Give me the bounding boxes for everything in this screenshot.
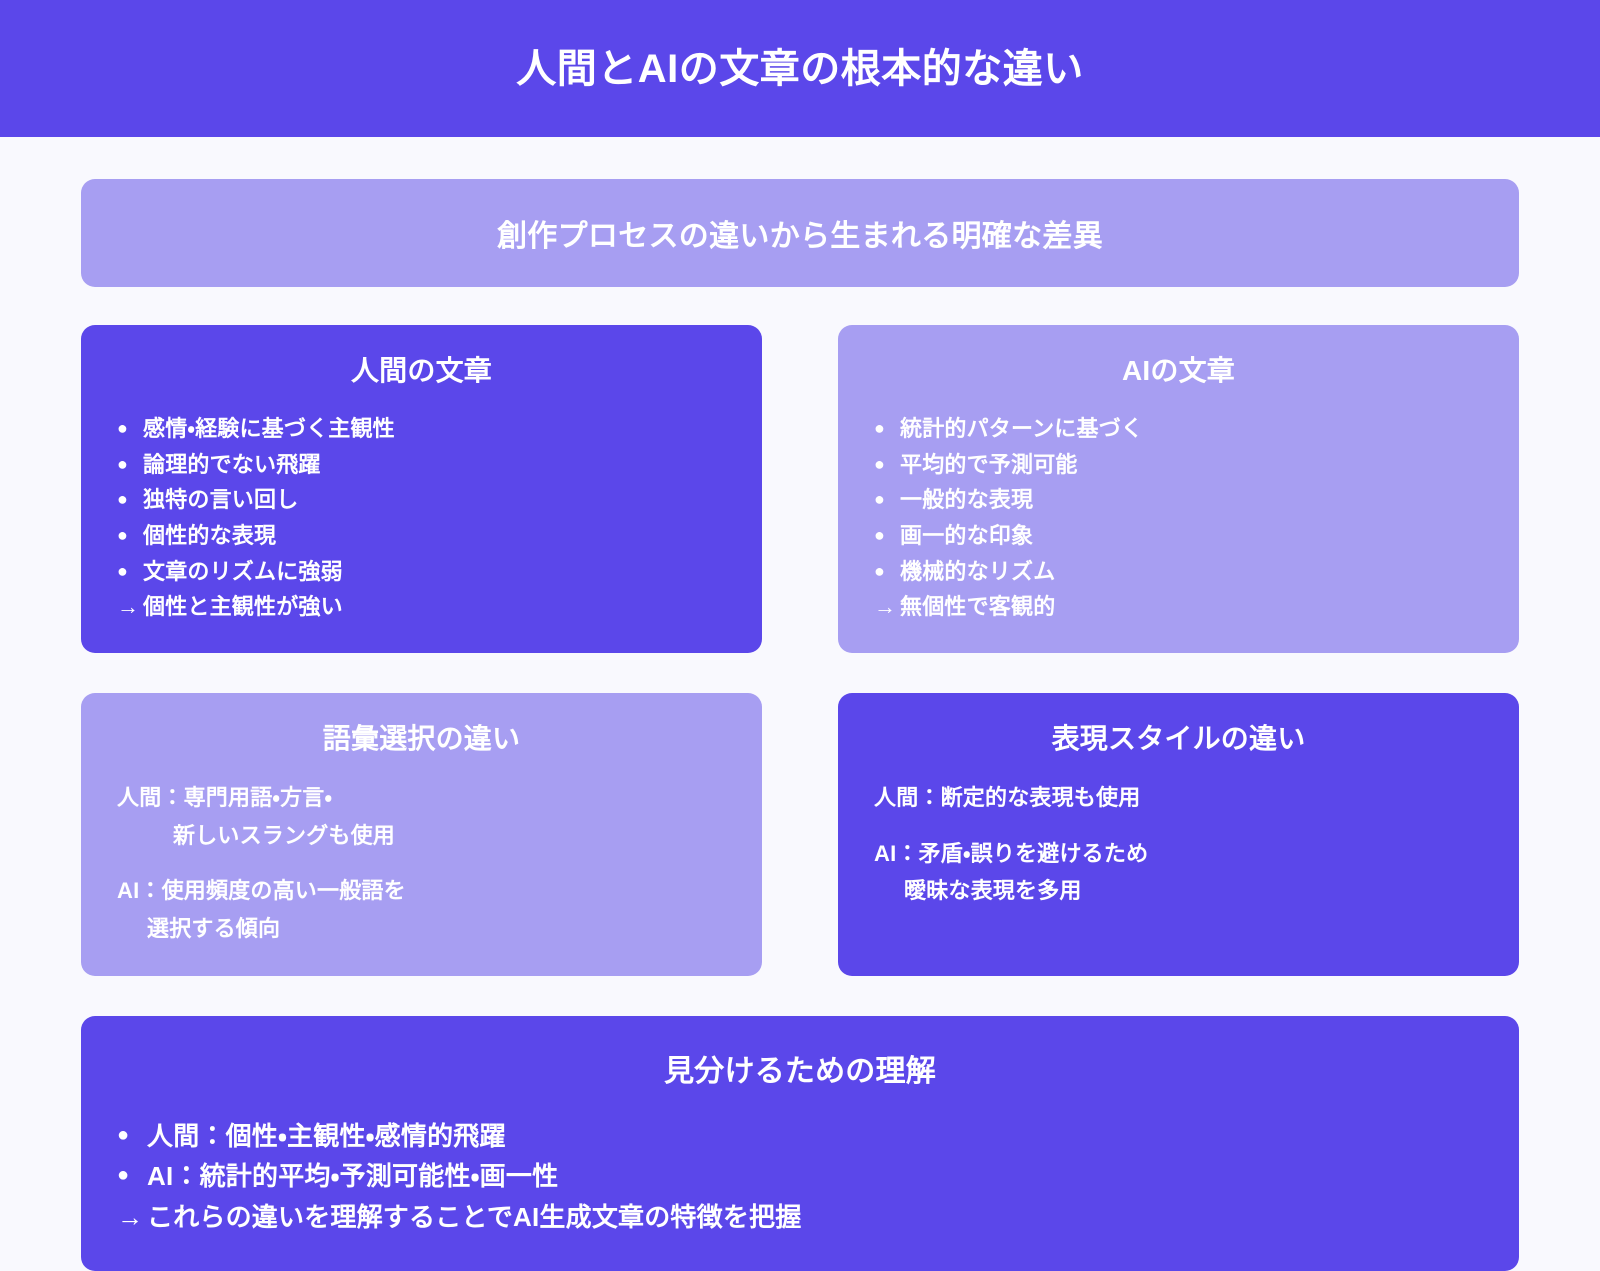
card-title-summary: 見分けるための理解 [117,1046,1483,1090]
bullet-dot-icon: ● [117,1116,147,1154]
arrow-right-icon: → [117,1197,147,1237]
style-ai-line1: AI：矛盾・誤りを避けるため [874,841,1148,866]
vocabulary-body: 人間：専門用語・方言・ 新しいスラングも使用 AI：使用頻度の高い一般語を 選択… [117,779,726,948]
header-bar: 人間とAIの文章の根本的な違い [0,0,1600,137]
bullet-dot-icon: ● [874,411,900,446]
page-title: 人間とAIの文章の根本的な違い [516,45,1084,93]
infographic-page: 人間とAIの文章の根本的な違い 創作プロセスの違いから生まれる明確な差異 人間の… [0,0,1600,1200]
list-item: ● 独特の言い回し [117,482,726,518]
vocabulary-ai-line2: 選択する傾向 [117,910,726,948]
list-item-label: 画一的な印象 [900,518,1483,554]
vocabulary-human-entry: 人間：専門用語・方言・ 新しいスラングも使用 [117,779,726,855]
bullet-dot-icon: ● [117,482,143,517]
list-item: ● 論理的でない飛躍 [117,447,726,483]
list-item-label: 個性的な表現 [143,518,726,554]
style-ai-line2: 曖昧な表現を多用 [874,872,1483,910]
list-item: ● 文章のリズムに強弱 [117,554,726,590]
list-item: ● 感情・経験に基づく主観性 [117,411,726,447]
conclusion-label: 無個性で客観的 [900,589,1483,625]
bullet-dot-icon: ● [874,554,900,589]
vocabulary-ai-entry: AI：使用頻度の高い一般語を 選択する傾向 [117,872,726,948]
list-item-label: 人間：個性・主観性・感情的飛躍 [147,1116,1483,1156]
content-area: 創作プロセスの違いから生まれる明確な差異 人間の文章 ● 感情・経験に基づく主観… [0,137,1600,1271]
conclusion-label: 個性と主観性が強い [143,589,726,625]
list-item: ● AI：統計的平均・予測可能性・画一性 [117,1156,1483,1196]
bullet-list-summary: ● 人間：個性・主観性・感情的飛躍 ● AI：統計的平均・予測可能性・画一性 →… [117,1116,1483,1237]
list-item: ● 機械的なリズム [874,554,1483,590]
list-item-label: 独特の言い回し [143,482,726,518]
bullet-list-human-writing: ● 感情・経験に基づく主観性 ● 論理的でない飛躍 ● 独特の言い回し ● 個性… [117,411,726,625]
arrow-right-icon: → [117,589,143,625]
list-item: ● 一般的な表現 [874,482,1483,518]
card-ai-writing: AIの文章 ● 統計的パターンに基づく ● 平均的で予測可能 ● 一般的な表現 [838,325,1519,653]
list-item-label: 文章のリズムに強弱 [143,554,726,590]
bullet-dot-icon: ● [117,447,143,482]
bullet-dot-icon: ● [117,411,143,446]
card-title-vocabulary-difference: 語彙選択の違い [117,717,726,757]
style-ai-entry: AI：矛盾・誤りを避けるため 曖昧な表現を多用 [874,835,1483,911]
vocabulary-ai-line1: AI：使用頻度の高い一般語を [117,878,406,903]
list-item-label: 機械的なリズム [900,554,1483,590]
bullet-dot-icon: ● [874,482,900,517]
list-item-label: 感情・経験に基づく主観性 [143,411,726,447]
card-summary: 見分けるための理解 ● 人間：個性・主観性・感情的飛躍 ● AI：統計的平均・予… [81,1016,1519,1271]
style-human-line1: 人間：断定的な表現も使用 [874,785,1140,810]
list-item: ● 統計的パターンに基づく [874,411,1483,447]
list-item: ● 画一的な印象 [874,518,1483,554]
list-item: ● 人間：個性・主観性・感情的飛躍 [117,1116,1483,1156]
bullet-dot-icon: ● [117,518,143,553]
card-vocabulary-difference: 語彙選択の違い 人間：専門用語・方言・ 新しいスラングも使用 AI：使用頻度の高… [81,693,762,976]
subtitle-text: 創作プロセスの違いから生まれる明確な差異 [497,211,1103,255]
style-human-entry: 人間：断定的な表現も使用 [874,779,1483,817]
vocabulary-human-line1: 人間：専門用語・方言・ [117,785,332,810]
conclusion-label: これらの違いを理解することでAI生成文章の特徴を把握 [147,1197,1483,1237]
card-style-difference: 表現スタイルの違い 人間：断定的な表現も使用 AI：矛盾・誤りを避けるため 曖昧… [838,693,1519,976]
conclusion-item: → 個性と主観性が強い [117,589,726,625]
list-item: ● 個性的な表現 [117,518,726,554]
card-human-writing: 人間の文章 ● 感情・経験に基づく主観性 ● 論理的でない飛躍 ● 独特の言い回… [81,325,762,653]
vocabulary-human-line2: 新しいスラングも使用 [117,817,726,855]
list-item: ● 平均的で予測可能 [874,447,1483,483]
bullet-dot-icon: ● [117,554,143,589]
bullet-dot-icon: ● [117,1156,147,1194]
bullet-dot-icon: ● [874,447,900,482]
list-item-label: 統計的パターンに基づく [900,411,1483,447]
conclusion-item: → 無個性で客観的 [874,589,1483,625]
bullet-list-ai-writing: ● 統計的パターンに基づく ● 平均的で予測可能 ● 一般的な表現 ● 画一的な… [874,411,1483,625]
conclusion-item: → これらの違いを理解することでAI生成文章の特徴を把握 [117,1197,1483,1237]
list-item-label: 平均的で予測可能 [900,447,1483,483]
comparison-grid: 人間の文章 ● 感情・経験に基づく主観性 ● 論理的でない飛躍 ● 独特の言い回… [81,325,1519,976]
subtitle-banner: 創作プロセスの違いから生まれる明確な差異 [81,179,1519,287]
arrow-right-icon: → [874,589,900,625]
card-title-ai-writing: AIの文章 [874,349,1483,389]
bullet-dot-icon: ● [874,518,900,553]
style-body: 人間：断定的な表現も使用 AI：矛盾・誤りを避けるため 曖昧な表現を多用 [874,779,1483,910]
list-item-label: AI：統計的平均・予測可能性・画一性 [147,1156,1483,1196]
list-item-label: 一般的な表現 [900,482,1483,518]
card-title-human-writing: 人間の文章 [117,349,726,389]
card-title-style-difference: 表現スタイルの違い [874,717,1483,757]
list-item-label: 論理的でない飛躍 [143,447,726,483]
